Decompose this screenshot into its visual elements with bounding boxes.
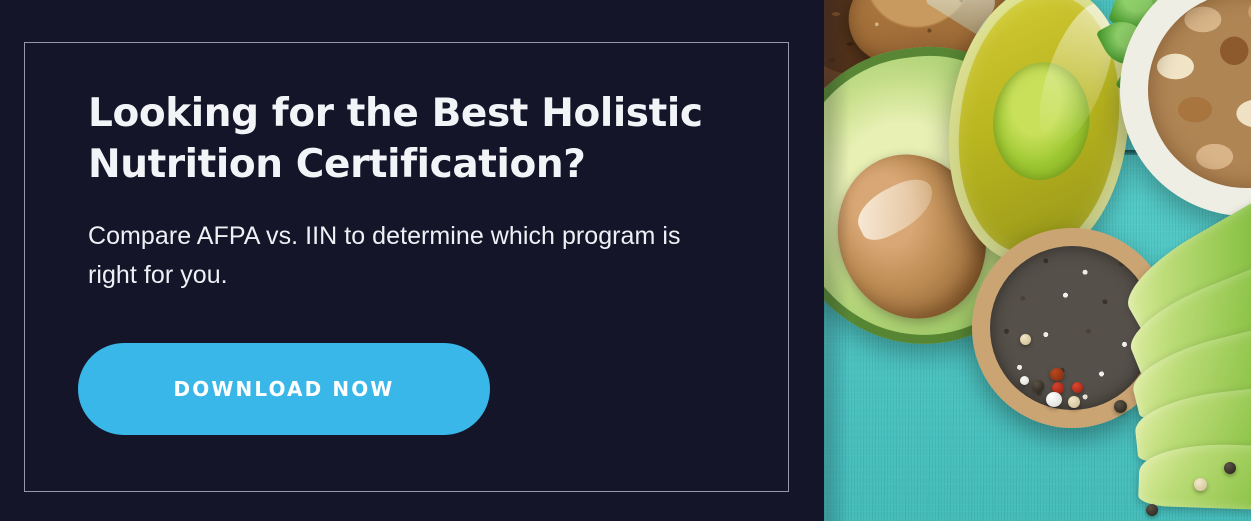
peppercorn (1050, 368, 1064, 381)
peppercorn (1194, 478, 1207, 491)
cta-banner: Looking for the Best Holistic Nutrition … (0, 0, 1251, 521)
peppercorn (1146, 504, 1158, 516)
mixed-nuts (1148, 0, 1251, 188)
banner-text-panel: Looking for the Best Holistic Nutrition … (0, 0, 824, 521)
banner-subheadline: Compare AFPA vs. IIN to determine which … (88, 217, 728, 295)
download-now-label: DOWNLOAD NOW (174, 377, 395, 401)
peppercorn (1046, 392, 1062, 407)
peppercorn (1114, 400, 1127, 413)
healthy-fats-photo (824, 0, 1251, 521)
peppercorn (1224, 462, 1236, 474)
peppercorn (1020, 376, 1029, 385)
peppercorn (1068, 396, 1080, 408)
peppercorn (1020, 334, 1031, 345)
peppercorn (1072, 382, 1083, 393)
banner-content: Looking for the Best Holistic Nutrition … (88, 88, 748, 435)
peppercorn (1032, 380, 1044, 392)
sliced-avocado-fan (1037, 221, 1251, 521)
download-now-button[interactable]: DOWNLOAD NOW (78, 343, 490, 435)
page-title: Looking for the Best Holistic Nutrition … (88, 88, 708, 190)
